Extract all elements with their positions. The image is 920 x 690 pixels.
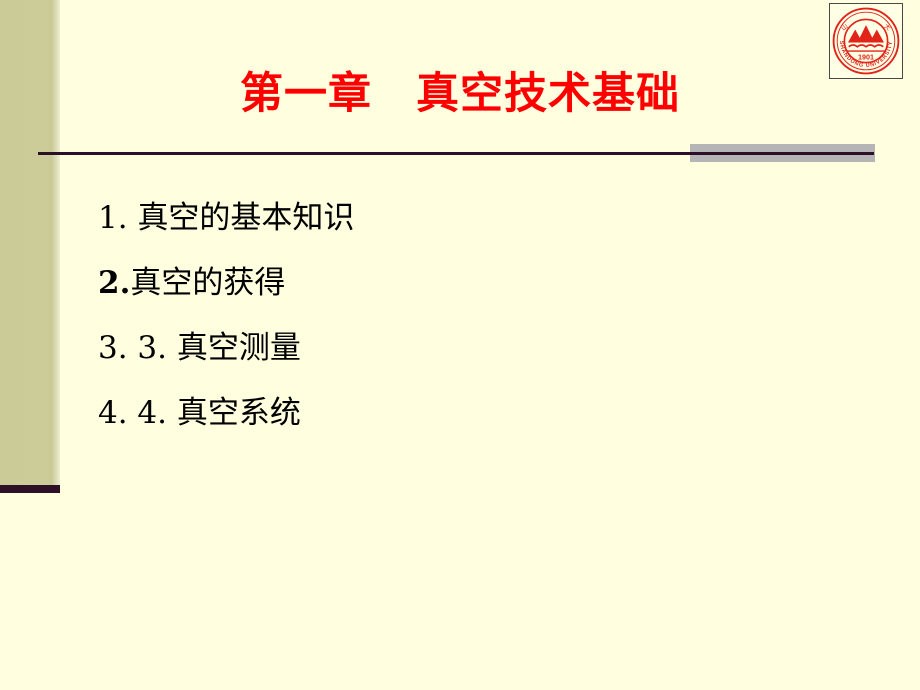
list-item-label: 真空系统 (177, 395, 301, 431)
list-item-label: 真空的基本知识 (137, 200, 354, 236)
left-accent-band (0, 0, 60, 487)
outline-list: 1. 真空的基本知识 2.真空的获得 3. 3. 真空测量 4. 4. 真空系统 (98, 186, 838, 446)
list-item: 4. 4. 真空系统 (98, 381, 838, 446)
shandong-university-logo-svg: 山 大 1901 SHANDONG UNIVERSITY (830, 4, 902, 78)
list-item: 1. 真空的基本知识 (98, 186, 838, 251)
list-item-label: 真空的获得 (130, 265, 285, 301)
list-item: 3. 3. 真空测量 (98, 316, 838, 381)
list-item-marker: 4. 4. (98, 395, 177, 431)
list-item-marker: 3. 3. (98, 330, 177, 366)
list-item-marker: 2. (98, 265, 130, 301)
left-accent-band-foot (0, 485, 60, 493)
presentation-slide: 第一章 真空技术基础 1. 真空的基本知识 2.真空的获得 3. 3. 真空测量… (0, 0, 920, 690)
svg-text:山: 山 (839, 21, 850, 32)
list-item-label: 真空测量 (177, 330, 301, 366)
svg-text:大: 大 (882, 21, 893, 32)
page-title: 第一章 真空技术基础 (60, 66, 860, 122)
title-divider-rule (38, 152, 874, 155)
svg-text:1901: 1901 (858, 53, 874, 62)
list-item: 2.真空的获得 (98, 251, 838, 316)
shandong-university-logo-icon: 山 大 1901 SHANDONG UNIVERSITY (829, 3, 903, 79)
list-item-marker: 1. (98, 200, 137, 236)
